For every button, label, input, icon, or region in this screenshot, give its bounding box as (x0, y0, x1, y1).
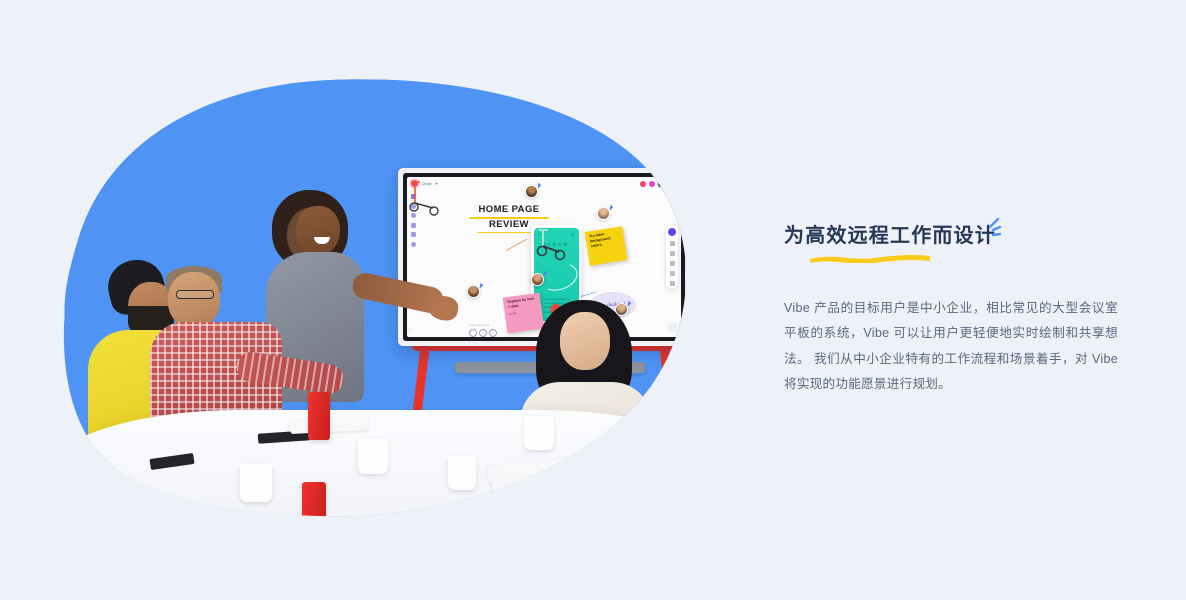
sticky-note-pink-text: Replace by icon + data (507, 296, 535, 309)
whiteboard-right-toolbar (666, 225, 678, 289)
headline-block: 为高效远程工作而设计 (784, 226, 996, 246)
table-cup-4 (524, 416, 554, 450)
ring-row-caption: step step step (469, 324, 489, 327)
collaborator-avatar-1[interactable] (525, 185, 538, 198)
grid-tool-icon[interactable] (670, 261, 675, 266)
eraser-tool-icon[interactable] (670, 281, 675, 286)
phone-cart-icon[interactable]: ▣ (571, 232, 575, 237)
glasses-icon (176, 290, 214, 299)
hero-illustration: Draft ▾ ✎ ◓ (0, 0, 760, 600)
ring-step-3 (489, 329, 497, 337)
sticky-note-yellow-text: Try other background colors. (589, 232, 611, 249)
ring-row (469, 329, 497, 337)
collaborator-avatar-3[interactable] (467, 285, 480, 298)
frame-tool-icon[interactable] (411, 223, 416, 228)
active-color-icon[interactable] (668, 228, 676, 236)
scooter-sketch (407, 177, 441, 217)
yellow-underline-icon (808, 252, 932, 263)
table-cup-1 (240, 464, 272, 502)
sparkle-lines-icon (987, 217, 1013, 243)
page-root: Draft ▾ ✎ ◓ (0, 0, 1186, 600)
sticky-note-pink[interactable]: Replace by icon + data 01.AM (503, 293, 545, 334)
circle-tool-icon[interactable] (670, 251, 675, 256)
fullscreen-button[interactable] (668, 323, 677, 332)
more-tool-icon[interactable] (411, 242, 416, 247)
text-panel: 为高效远程工作而设计 Vibe 产品的目标用户是中小企业，相比常见的大型会议室平… (784, 0, 1186, 600)
table-cup-2 (358, 438, 388, 474)
collapse-sidebar-icon[interactable]: ‹ (409, 327, 411, 333)
seated-right-face (560, 312, 610, 370)
sticky-tool-icon[interactable] (411, 232, 416, 237)
page-title: 为高效远程工作而设计 (784, 226, 996, 246)
table-can-1 (308, 392, 330, 440)
undo-tool-icon[interactable] (670, 271, 675, 276)
layers-tool-icon[interactable] (670, 241, 675, 246)
whiteboard-topbar: Draft ▾ ✎ ◓ (407, 177, 681, 190)
ring-step-2 (479, 329, 487, 337)
canvas-title-line1: HOME PAGE (463, 203, 555, 218)
sticky-note-pink-meta: 01.AM (509, 309, 538, 317)
sticky-note-yellow[interactable]: Try other background colors. (585, 226, 628, 266)
table-phone-1 (149, 453, 194, 470)
plaid-shirt-face (168, 272, 220, 328)
ring-step-1 (469, 329, 477, 337)
color-swatch-red[interactable] (640, 181, 646, 187)
table-cup-3 (448, 456, 476, 490)
collaborator-avatar-4[interactable] (531, 273, 544, 286)
body-paragraph: Vibe 产品的目标用户是中小企业，相比常见的大型会议室平板的系统，Vibe 可… (784, 296, 1118, 398)
presenter-face (296, 206, 340, 256)
collaborator-avatar-2[interactable] (597, 207, 610, 220)
phone-scooter-image (534, 228, 566, 262)
color-swatch-magenta[interactable] (649, 181, 655, 187)
